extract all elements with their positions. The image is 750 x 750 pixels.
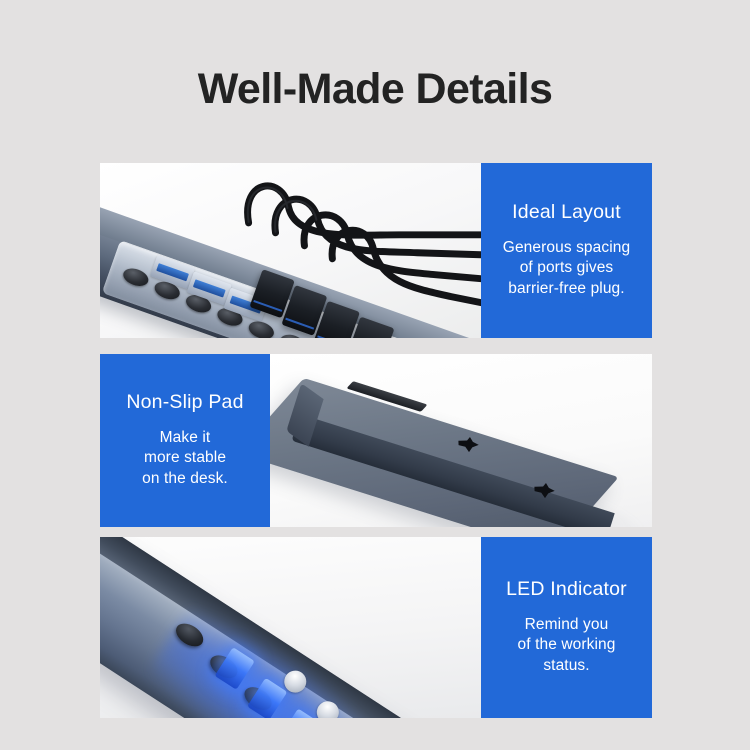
caption-heading: LED Indicator <box>506 578 627 601</box>
caption-heading: Non-Slip Pad <box>126 391 243 414</box>
caption-panel-non-slip-pad: Non-Slip Pad Make it more stable on the … <box>100 354 270 527</box>
usb-cables <box>100 163 481 338</box>
caption-body: Remind you of the working status. <box>518 615 616 677</box>
caption-heading: Ideal Layout <box>512 201 621 224</box>
caption-body-line: Generous spacing <box>503 238 630 259</box>
caption-body-line: of ports gives <box>503 258 630 279</box>
feature-card-non-slip-pad: Non-Slip Pad Make it more stable on the … <box>100 354 652 527</box>
caption-body-line: of the working <box>518 635 616 656</box>
caption-panel-ideal-layout: Ideal Layout Generous spacing of ports g… <box>481 163 652 338</box>
page-title: Well-Made Details <box>0 66 750 113</box>
caption-body-line: on the desk. <box>142 469 228 490</box>
product-photo-cables <box>100 163 481 338</box>
caption-panel-led-indicator: LED Indicator Remind you of the working … <box>481 537 652 718</box>
caption-body-line: Make it <box>142 428 228 449</box>
caption-body-line: barrier-free plug. <box>503 279 630 300</box>
feature-card-ideal-layout: Ideal Layout Generous spacing of ports g… <box>100 163 652 338</box>
product-photo-underside <box>270 354 652 527</box>
caption-body: Make it more stable on the desk. <box>142 428 228 490</box>
caption-body: Generous spacing of ports gives barrier-… <box>503 238 630 300</box>
usb-hub-underside <box>270 354 652 527</box>
product-photo-led <box>100 537 481 718</box>
caption-body-line: more stable <box>142 448 228 469</box>
caption-body-line: Remind you <box>518 615 616 636</box>
caption-body-line: status. <box>518 656 616 677</box>
feature-card-led-indicator: LED Indicator Remind you of the working … <box>100 537 652 718</box>
